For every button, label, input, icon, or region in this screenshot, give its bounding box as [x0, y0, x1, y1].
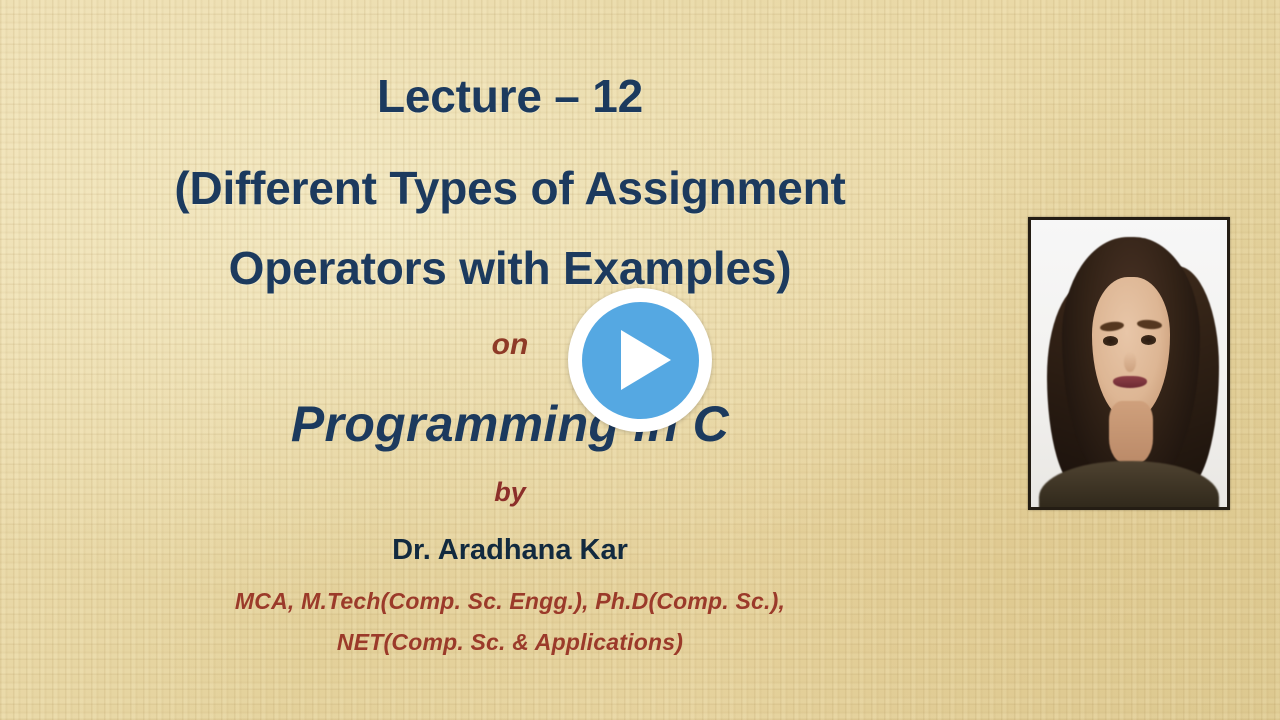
eye-right-shape — [1141, 335, 1157, 345]
author-qualifications-line-2: NET(Comp. Sc. & Applications) — [0, 626, 1020, 658]
slide-title-line-2: Operators with Examples) — [0, 238, 1020, 298]
eye-left-shape — [1103, 336, 1119, 346]
course-subject-title: Programming in C — [0, 393, 1020, 455]
author-name: Dr. Aradhana Kar — [0, 530, 1020, 570]
presenter-photo-frame — [1028, 217, 1230, 510]
author-qualifications-line-1: MCA, M.Tech(Comp. Sc. Engg.), Ph.D(Comp.… — [0, 585, 1020, 617]
slide-title-line-1: (Different Types of Assignment — [0, 158, 1020, 218]
neck-shape — [1109, 401, 1152, 464]
play-button-disc — [582, 302, 699, 419]
play-button[interactable] — [568, 288, 712, 432]
video-slide-frame: Lecture – 12 (Different Types of Assignm… — [0, 0, 1280, 720]
nose-shape — [1124, 352, 1136, 372]
connector-text-on: on — [0, 325, 1020, 365]
presenter-photo — [1031, 220, 1227, 507]
lecture-number-heading: Lecture – 12 — [0, 68, 1020, 124]
play-triangle-icon — [621, 330, 671, 390]
byline-label: by — [0, 474, 1020, 510]
